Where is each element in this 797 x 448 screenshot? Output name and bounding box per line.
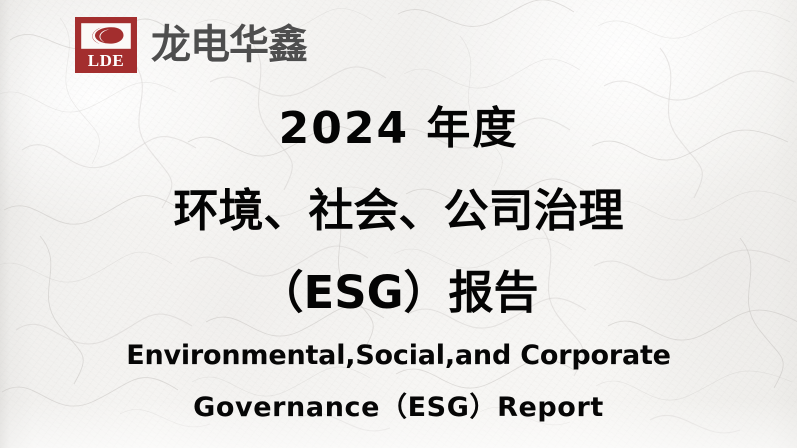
subtitle-line-2: Governance（ESG）Report [0,382,797,434]
logo-wordmark: LDE [75,52,137,70]
cover-subtitle: Environmental,Social,and Corporate Gover… [0,330,797,434]
title-line-2: 环境、社会、公司治理 [0,170,797,252]
title-line-1: 2024 年度 [0,88,797,170]
report-cover-slide: LDE 龙电华鑫 2024 年度 环境、社会、公司治理 （ESG）报告 Envi… [0,0,797,448]
company-name: 龙电华鑫 [151,23,307,67]
cover-title: 2024 年度 环境、社会、公司治理 （ESG）报告 [0,88,797,334]
lde-swoosh-logo-icon: LDE [75,17,137,73]
brand-lockup: LDE 龙电华鑫 [75,17,307,73]
title-line-3: （ESG）报告 [0,252,797,334]
subtitle-line-1: Environmental,Social,and Corporate [0,330,797,382]
logo-panel [80,22,132,50]
